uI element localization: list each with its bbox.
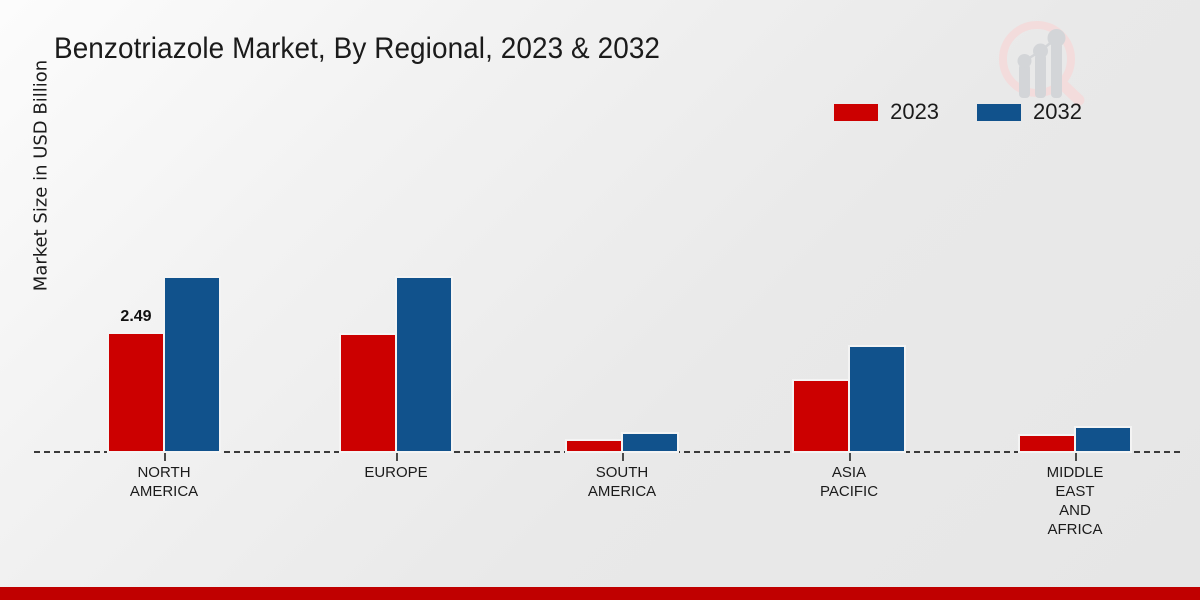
- category-line: MIDDLE: [1047, 463, 1104, 482]
- x-axis-tick-middle-east-and-africa: [1075, 453, 1077, 461]
- x-axis-tick-europe: [396, 453, 398, 461]
- bar-2023-middle-east-and-africa[interactable]: [1019, 435, 1075, 452]
- x-axis-tick-asia-pacific: [849, 453, 851, 461]
- category-line: AMERICA: [130, 482, 198, 501]
- category-line: AND: [1047, 501, 1104, 520]
- bar-2023-europe[interactable]: [340, 334, 396, 452]
- x-axis-category-middle-east-and-africa: MIDDLE EAST AND AFRICA: [1047, 463, 1104, 539]
- bar-2023-south-america[interactable]: [566, 440, 622, 452]
- bar-2032-middle-east-and-africa[interactable]: [1075, 427, 1131, 452]
- category-line: NORTH: [130, 463, 198, 482]
- x-axis-tick-north-america: [164, 453, 166, 461]
- category-line: ASIA: [820, 463, 878, 482]
- bar-2032-south-america[interactable]: [622, 433, 678, 452]
- bar-pair-north-america: 2.49: [108, 277, 220, 452]
- bar-2023-asia-pacific[interactable]: [793, 380, 849, 452]
- plot-area: 2.49 NORTH AMERICA EUROPE: [0, 0, 1200, 600]
- category-line: PACIFIC: [820, 482, 878, 501]
- category-line: EUROPE: [364, 463, 427, 482]
- x-axis-category-europe: EUROPE: [364, 463, 427, 482]
- bar-pair-middle-east-and-africa: [1019, 427, 1131, 452]
- category-line: SOUTH: [588, 463, 656, 482]
- category-line: EAST: [1047, 482, 1104, 501]
- x-axis-tick-south-america: [622, 453, 624, 461]
- footer-accent-bar: [0, 587, 1200, 600]
- bar-2032-europe[interactable]: [396, 277, 452, 452]
- bar-2023-north-america[interactable]: 2.49: [108, 333, 164, 452]
- bar-pair-south-america: [566, 433, 678, 452]
- category-line: AFRICA: [1047, 520, 1104, 539]
- bar-2032-north-america[interactable]: [164, 277, 220, 452]
- bar-2032-asia-pacific[interactable]: [849, 346, 905, 452]
- x-axis-category-south-america: SOUTH AMERICA: [588, 463, 656, 501]
- x-axis-category-asia-pacific: ASIA PACIFIC: [820, 463, 878, 501]
- category-line: AMERICA: [588, 482, 656, 501]
- x-axis-category-north-america: NORTH AMERICA: [130, 463, 198, 501]
- bar-pair-europe: [340, 277, 452, 452]
- chart-canvas: Benzotriazole Market, By Regional, 2023 …: [0, 0, 1200, 600]
- bar-value-label-north-america-2023: 2.49: [120, 308, 151, 326]
- bar-pair-asia-pacific: [793, 346, 905, 452]
